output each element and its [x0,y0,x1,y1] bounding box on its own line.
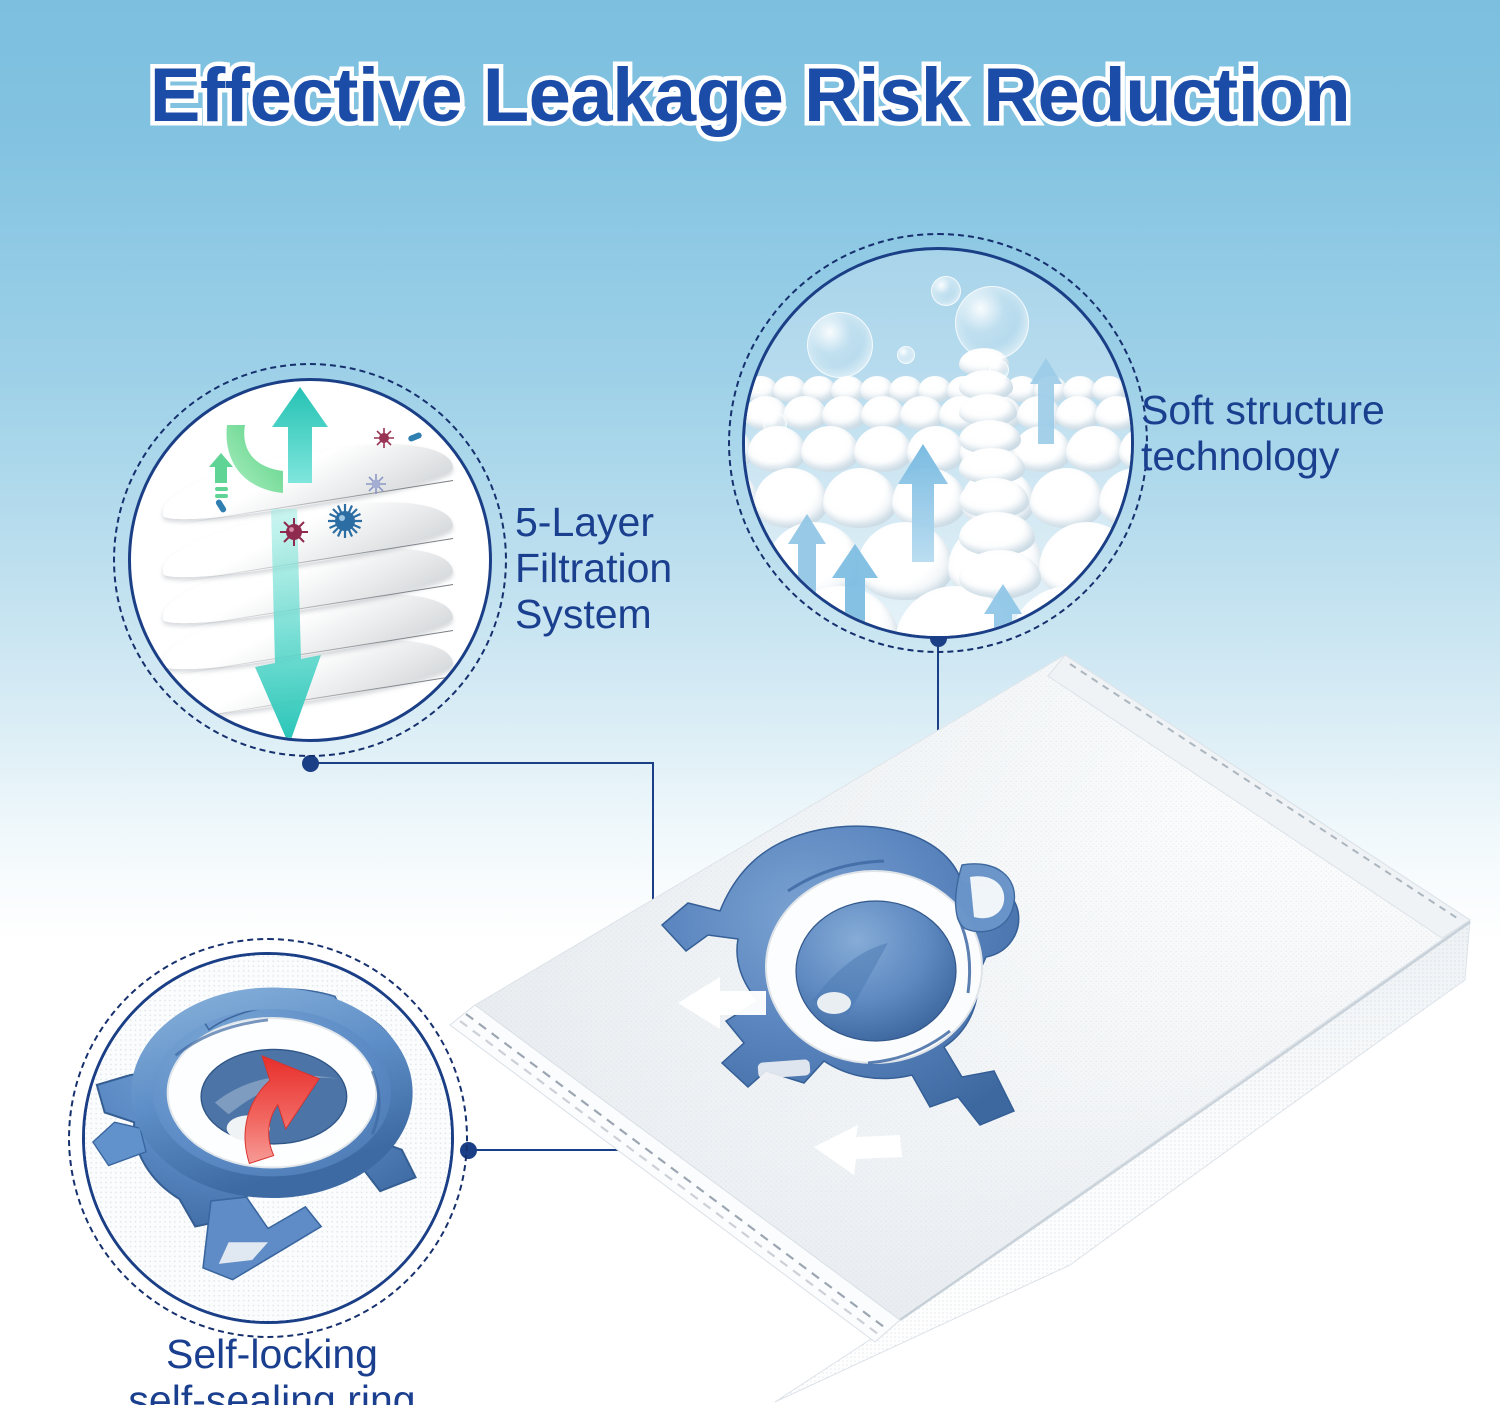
callout-solid-ring [82,952,454,1324]
teal-up-arrow-icon [271,387,329,483]
soft-up-arrow-lower-left-icon [831,544,879,639]
callout-five-layer-filtration [113,363,507,757]
infographic-poster: Effective Leakage Risk Reduction [0,0,1500,1405]
germ-particle-red-icon [279,517,309,547]
green-airflow-dashes-icon [207,453,241,499]
soap-bubble-mid-icon [989,360,1009,380]
callout-label-line-2: self-sealing ring [72,1378,472,1405]
callout-label-soft-structure: Soft structure technology [1141,388,1471,480]
quilted-soft-surface-icon [745,250,1131,636]
callout-label-line-2: technology [1141,434,1471,480]
collar-port-dome [796,901,956,1041]
callout-soft-structure-technology [728,233,1148,653]
soap-bubble-edge-icon [763,412,787,436]
germ-particle-rod-blue-icon [407,431,423,443]
soap-bubble-right-large-icon [955,286,1029,360]
soft-up-arrow-lower-right-icon [983,584,1023,639]
soft-up-arrow-center-icon [897,444,949,562]
callout-label-self-locking-ring: Self-locking self-sealing ring [72,1332,472,1405]
stacked-filter-layers-icon [131,381,489,739]
callout-solid-ring [742,247,1134,639]
germ-particle-blue-icon [327,503,363,539]
soap-bubble-tiny-icon [897,346,915,364]
callout-label-line-1: Self-locking [72,1332,472,1378]
callout-self-locking-ring [68,938,468,1338]
quilt-ridge-right [959,348,1036,598]
soap-bubble-right-small-icon [931,276,961,306]
collar-highlight-dot [817,992,851,1014]
callout-label-line-1: Soft structure [1141,388,1471,434]
soft-up-arrow-left-icon [787,514,827,602]
soft-up-arrow-right-icon [1029,358,1063,444]
sealing-collar-icon [85,955,451,1321]
soap-bubble-left-icon [807,312,873,378]
vacuum-dust-bag [430,620,1470,1405]
germ-particle-violet-icon [365,473,387,495]
page-title: Effective Leakage Risk Reduction [0,52,1500,139]
germ-particle-maroon-icon [373,427,395,449]
quilt-row-4 [742,396,1134,430]
germ-particle-rod-teal-icon [213,499,229,513]
callout-solid-ring [128,378,492,742]
